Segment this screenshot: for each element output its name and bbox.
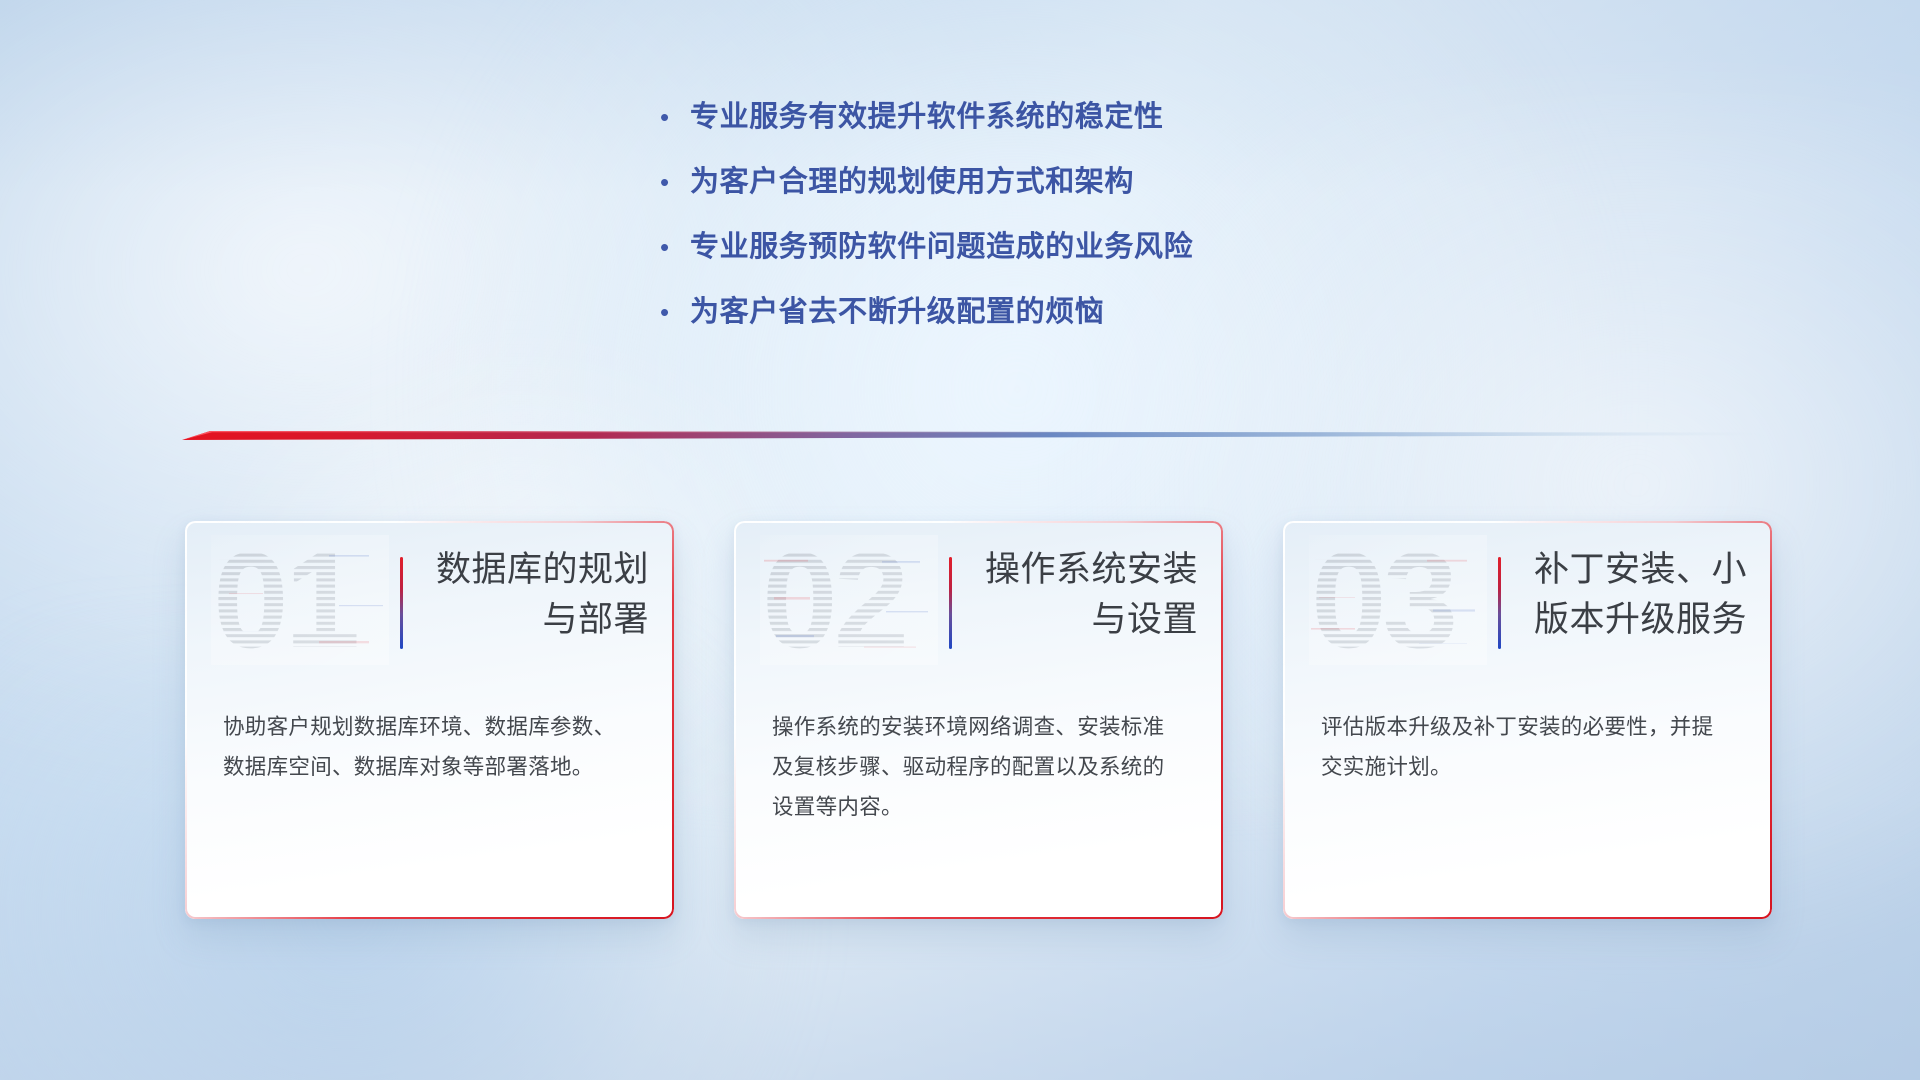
card-title-01: 数据库的规划与部署	[431, 545, 649, 645]
bullet-marker-icon: •	[660, 161, 690, 203]
service-card-02[interactable]: 02 操作系统安装与设置 操作系统的安装环境网络调查、安装标准及复核步骤、驱动程	[734, 521, 1223, 919]
bullet-text-4: 为客户省去不断升级配置的烦恼	[690, 291, 1104, 333]
service-card-01[interactable]: 01 数据库的规划与部署 协助客户规划数据库环境、数据库参数、数据库空间、数据库	[185, 521, 674, 919]
bullet-marker-icon: •	[660, 291, 690, 333]
bullet-item-3: • 专业服务预防软件问题造成的业务风险	[660, 226, 1193, 291]
service-card-03[interactable]: 03 补丁安装、小版本升级服务 评估版本升级及补丁安装的必要性，并提交实施计划。	[1283, 521, 1772, 919]
card-header: 01 数据库的规划与部署	[185, 521, 674, 686]
bullet-marker-icon: •	[660, 96, 690, 138]
card-header: 03 补丁安装、小版本升级服务	[1283, 521, 1772, 686]
bullet-list: • 专业服务有效提升软件系统的稳定性 • 为客户合理的规划使用方式和架构 • 专…	[660, 96, 1193, 356]
bullet-text-1: 专业服务有效提升软件系统的稳定性	[690, 96, 1164, 138]
divider-shape	[182, 424, 1764, 446]
card-accent-bar	[949, 557, 952, 649]
section-divider	[182, 424, 1764, 446]
card-number-01-graphic: 01	[211, 535, 389, 665]
service-card-list: 01 数据库的规划与部署 协助客户规划数据库环境、数据库参数、数据库空间、数据库	[185, 521, 1772, 919]
bullet-text-3: 专业服务预防软件问题造成的业务风险	[690, 226, 1193, 268]
card-body-01: 协助客户规划数据库环境、数据库参数、数据库空间、数据库对象等部署落地。	[223, 707, 633, 787]
striped-number-icon: 02	[760, 535, 938, 665]
card-accent-bar	[1498, 557, 1501, 649]
bullet-item-2: • 为客户合理的规划使用方式和架构	[660, 161, 1193, 226]
bullet-text-2: 为客户合理的规划使用方式和架构	[690, 161, 1134, 203]
card-accent-bar	[400, 557, 403, 649]
bullet-item-1: • 专业服务有效提升软件系统的稳定性	[660, 96, 1193, 161]
striped-number-icon: 03	[1309, 535, 1487, 665]
bullet-marker-icon: •	[660, 226, 690, 268]
card-body-03: 评估版本升级及补丁安装的必要性，并提交实施计划。	[1321, 707, 1731, 787]
bullet-item-4: • 为客户省去不断升级配置的烦恼	[660, 291, 1193, 356]
striped-number-icon: 01	[211, 535, 389, 665]
card-title-02: 操作系统安装与设置	[980, 545, 1198, 645]
card-title-03: 补丁安装、小版本升级服务	[1529, 545, 1747, 645]
card-body-02: 操作系统的安装环境网络调查、安装标准及复核步骤、驱动程序的配置以及系统的设置等内…	[772, 707, 1182, 827]
card-header: 02 操作系统安装与设置	[734, 521, 1223, 686]
card-number-02-graphic: 02	[760, 535, 938, 665]
card-number-03-graphic: 03	[1309, 535, 1487, 665]
